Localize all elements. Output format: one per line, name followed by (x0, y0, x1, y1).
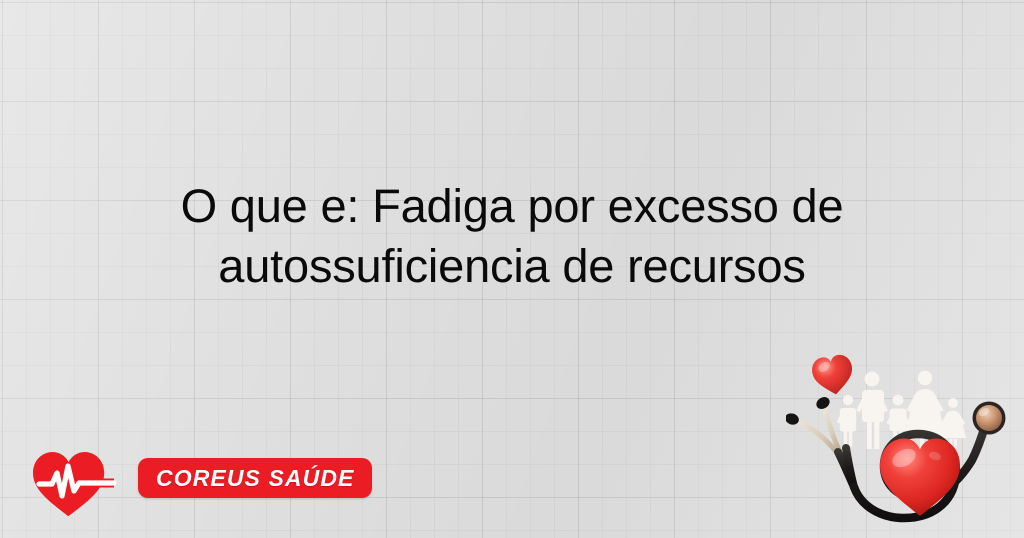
brand-name-badge[interactable]: COREUS SAÚDE (138, 458, 372, 498)
stethoscope-chestpiece (973, 402, 1006, 435)
brand-logo[interactable]: COREUS SAÚDE (30, 447, 350, 519)
page-title: O que e: Fadiga por excesso de autossufi… (0, 176, 1024, 296)
heart-with-ecg-pulse-icon (30, 447, 142, 524)
small-heart-icon (810, 353, 856, 397)
health-care-illustration (786, 348, 1024, 538)
brand-name-label: COREUS SAÚDE (156, 465, 355, 492)
banner-canvas: O que e: Fadiga por excesso de autossufi… (0, 0, 1024, 538)
